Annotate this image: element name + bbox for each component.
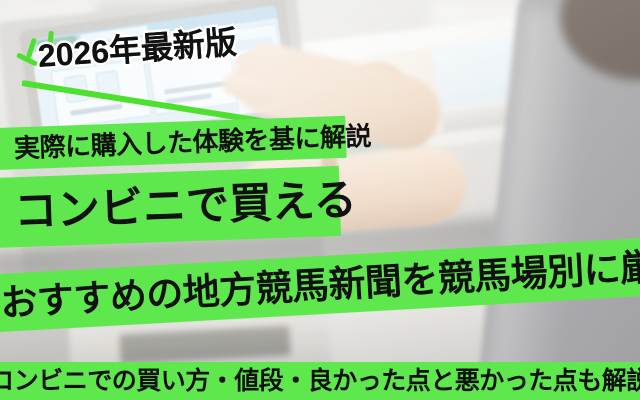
- banner-experience: 実際に購入した体験を基に解説: [0, 116, 347, 170]
- banner-experience-text: 実際に購入した体験を基に解説: [14, 123, 372, 161]
- sparkle-mark-icon-1: [26, 38, 37, 59]
- banner-headline-main: おすすめの地方競馬新聞を競馬場別に厳選: [0, 237, 640, 332]
- year-badge-label: 2026年最新版: [37, 26, 238, 72]
- banner-subcaption-text: コンビニでの買い方・値段・良かった点と悪かった点も解説: [0, 369, 640, 394]
- banner-headline-top-text: コンビニで買える: [13, 179, 357, 234]
- thumbnail-canvas: 2026年最新版 2026年最新版 実際に購入した体験を基に解説 コンビニで買え…: [0, 0, 640, 400]
- banner-headline-top: コンビニで買える: [0, 166, 341, 248]
- banner-headline-main-text: おすすめの地方競馬新聞を競馬場別に厳選: [0, 246, 640, 322]
- banner-subcaption: コンビニでの買い方・値段・良かった点と悪かった点も解説: [0, 362, 640, 400]
- text-overlay: 2026年最新版 2026年最新版 実際に購入した体験を基に解説 コンビニで買え…: [0, 0, 640, 400]
